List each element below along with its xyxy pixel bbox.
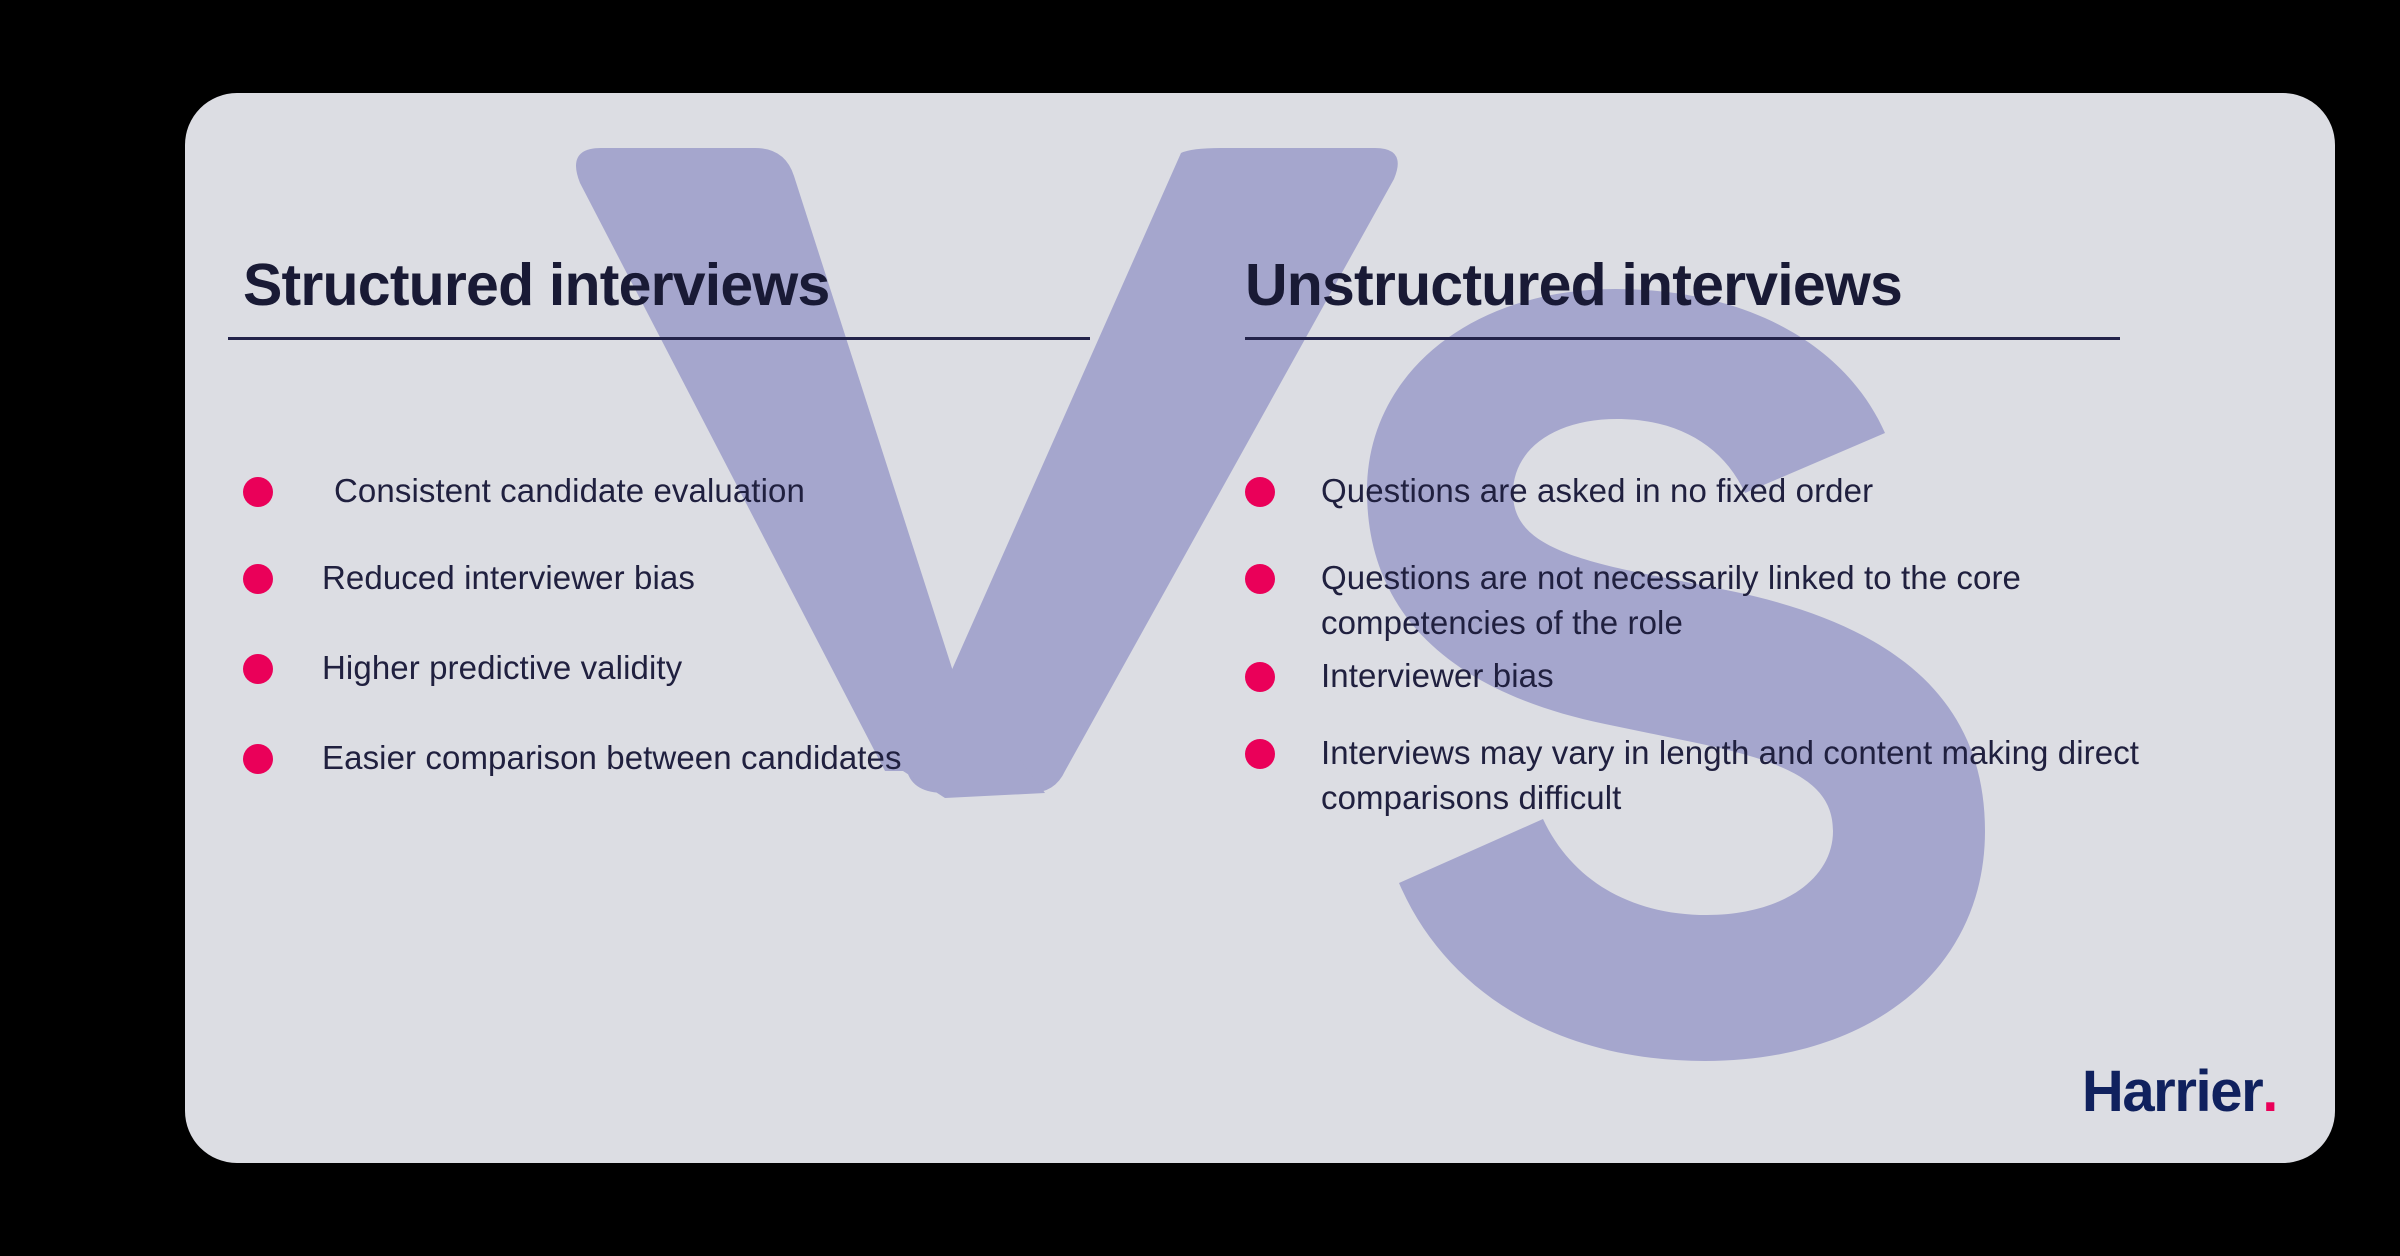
list-item-label: Questions are asked in no fixed order [1321,468,1873,513]
title-divider-unstructured [1245,337,2120,340]
bullet-dot-icon [1245,564,1275,594]
list-item-label: Consistent candidate evaluation [334,468,805,513]
column-title-structured: Structured interviews [243,256,829,315]
bullet-dot-icon [1245,477,1275,507]
list-item: Higher predictive validity [243,645,1113,690]
screenshot-root: Structured interviews Consistent candida… [0,0,2400,1256]
list-item: Easier comparison between candidates [243,735,1113,780]
list-item: Interviews may vary in length and conten… [1245,730,2175,820]
list-item-label: Interviewer bias [1321,653,1554,698]
list-item-label: Higher predictive validity [322,645,682,690]
list-item-label: Questions are not necessarily linked to … [1321,555,2175,645]
title-divider-structured [228,337,1090,340]
list-item-label: Easier comparison between candidates [322,735,902,780]
list-item: Questions are asked in no fixed order [1245,468,2175,513]
logo-wordmark: Harrier [2082,1063,2262,1121]
list-item-label: Interviews may vary in length and conten… [1321,730,2175,820]
bullet-dot-icon [1245,739,1275,769]
bullet-dot-icon [1245,662,1275,692]
bullet-dot-icon [243,744,273,774]
harrier-logo: Harrier . [2082,1063,2277,1121]
bullet-dot-icon [243,564,273,594]
list-item: Reduced interviewer bias [243,555,1113,600]
list-item-label: Reduced interviewer bias [322,555,695,600]
column-title-unstructured: Unstructured interviews [1245,256,1902,315]
comparison-card: Structured interviews Consistent candida… [185,93,2335,1163]
list-item: Consistent candidate evaluation [243,468,1113,513]
bullet-dot-icon [243,654,273,684]
logo-dot-icon: . [2262,1063,2277,1121]
list-item: Interviewer bias [1245,653,2175,698]
list-item: Questions are not necessarily linked to … [1245,555,2175,645]
bullet-dot-icon [243,477,273,507]
